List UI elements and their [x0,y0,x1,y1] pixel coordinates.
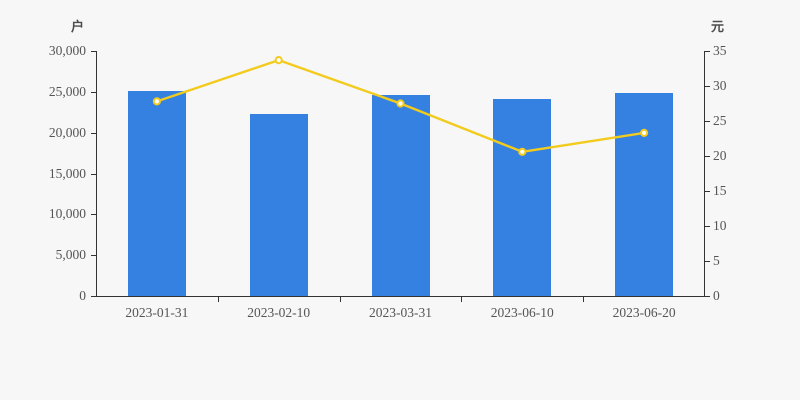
left-axis-tick-label: 15,000 [49,167,86,181]
bar[interactable] [615,93,673,296]
right-axis-tick [705,86,710,87]
x-axis-tick [340,297,341,302]
x-axis-category-label: 2023-03-31 [338,305,463,321]
right-axis-tick-label: 30 [713,79,727,93]
right-axis-tick [705,51,710,52]
right-axis-tick [705,226,710,227]
left-axis-tick [91,214,96,215]
left-axis-unit-label: 户 [71,16,84,35]
left-axis-tick-label: 5,000 [56,248,86,262]
left-axis-tick-label: 20,000 [49,126,86,140]
right-axis-tick [705,191,710,192]
left-axis-tick [91,51,96,52]
left-axis-tick-label: 25,000 [49,85,86,99]
bar[interactable] [493,99,551,296]
right-axis-tick [705,156,710,157]
left-axis-tick [91,174,96,175]
right-axis-tick-label: 10 [713,219,727,233]
left-axis-tick [91,92,96,93]
right-axis-unit-label: 元 [711,16,724,35]
right-axis-tick-label: 35 [713,44,727,58]
right-axis-tick-label: 15 [713,184,727,198]
left-axis-tick-label: 30,000 [49,44,86,58]
x-axis-tick [218,297,219,302]
x-axis-category-label: 2023-01-31 [94,305,219,321]
left-axis-tick-label: 10,000 [49,207,86,221]
x-axis-category-label: 2023-02-10 [216,305,341,321]
left-axis-tick-label: 0 [79,289,86,303]
x-axis-category-label: 2023-06-20 [582,305,707,321]
bar[interactable] [372,95,430,296]
right-axis-tick [705,121,710,122]
x-axis-line [96,296,705,297]
left-axis-tick [91,255,96,256]
x-axis-tick [461,297,462,302]
right-axis-tick-label: 20 [713,149,727,163]
left-axis-tick [91,296,96,297]
chart-container: 户 元 05,00010,00015,00020,00025,00030,000… [0,0,800,400]
x-axis-category-label: 2023-06-10 [460,305,585,321]
left-axis-tick [91,133,96,134]
right-axis-tick [705,296,710,297]
line-marker[interactable] [276,57,282,63]
right-axis-tick-label: 5 [713,254,720,268]
bar[interactable] [250,114,308,296]
right-axis-tick [705,261,710,262]
x-axis-tick [583,297,584,302]
right-axis-tick-label: 25 [713,114,727,128]
bar[interactable] [128,91,186,296]
left-y-axis-line [96,51,97,297]
right-axis-tick-label: 0 [713,289,720,303]
